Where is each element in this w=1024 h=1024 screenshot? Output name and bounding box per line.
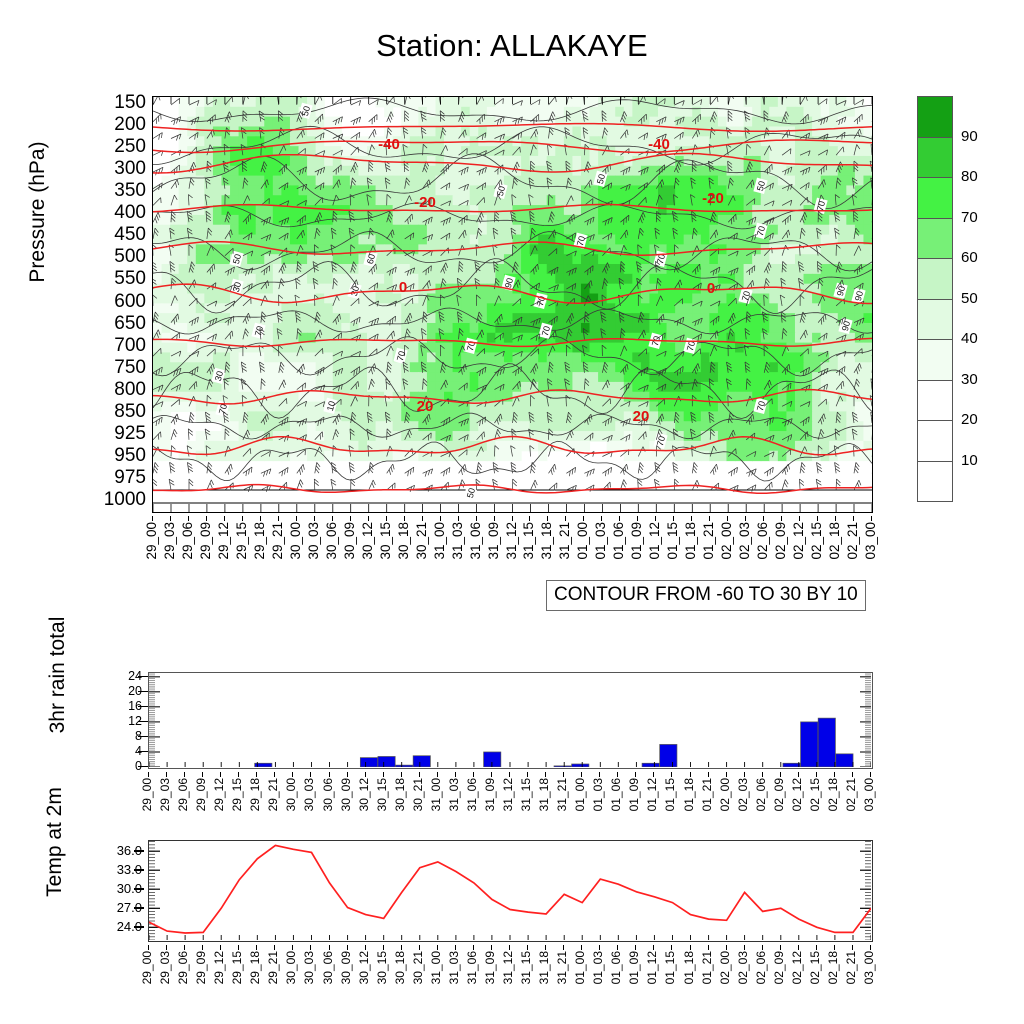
main-yaxis-labels: 1502002503003504004505005506006507007508… [96,96,146,513]
xaxis-tick-label: 29_15 [235,522,249,560]
xaxis-tick-label: 30_09 [340,778,352,811]
xaxis-tickmark [726,772,727,777]
colorbar-cell [917,420,953,462]
xaxis-tick-label: 02_18 [828,522,842,560]
xaxis-tickmark [635,772,636,777]
xaxis-tick-label: 29_09 [199,522,213,560]
xaxis-tickmark [383,772,384,777]
xaxis-tickmark [545,772,546,777]
xaxis-tick-label: 02_03 [738,522,752,560]
xaxis-tick-label: 02_06 [756,522,770,560]
xaxis-tick-label: 02_00 [719,778,731,811]
xaxis-tick-label: 31_12 [502,951,514,984]
colorbar-cell [917,96,953,138]
xaxis-tickmark [563,772,564,777]
xaxis-tick-label: 30_00 [289,522,303,560]
temp-tickmark [134,869,144,870]
temp-xaxis-tick-labels: 29_0029_0329_0629_0929_1229_1529_1829_21… [148,945,873,1015]
xaxis-tickmark [617,772,618,777]
xaxis-tick-label: 30_12 [358,778,370,811]
xaxis-tick-label: 29_12 [213,778,225,811]
xaxis-tick-label: 31_15 [522,522,536,560]
xaxis-tick-label: 01_03 [594,522,608,560]
xaxis-tick-label: 02_03 [737,951,749,984]
xaxis-tick-label: 02_21 [845,951,857,984]
pressure-tick-label: 950 [102,446,146,465]
xaxis-tick-label: 30_15 [376,951,388,984]
xaxis-tick-label: 29_12 [213,951,225,984]
xaxis-tickmark [599,772,600,777]
xaxis-tickmark [816,772,817,777]
xaxis-tickmark [220,945,221,950]
xaxis-tickmark [671,945,672,950]
xaxis-tick-label: 29_03 [159,778,171,811]
xaxis-tick-label: 31_21 [556,951,568,984]
xaxis-tickmark [440,516,441,521]
xaxis-tick-label: 31_06 [469,522,483,560]
cross-section-plot[interactable]: 5030305050709070707030701070707070909090… [152,96,873,513]
xaxis-tick-label: 01_09 [628,951,640,984]
xaxis-tick-label: 03_00 [864,522,878,560]
colorbar-tick-label: 40 [961,331,978,346]
temp-yaxis-labels: 24.027.030.033.036.0 [100,836,142,944]
xaxis-tick-label: 01_12 [646,778,658,811]
xaxis-tick-label: 01_18 [683,778,695,811]
xaxis-tick-label: 02_18 [827,778,839,811]
xaxis-tickmark [404,516,405,521]
xaxis-tick-label: 30_15 [379,522,393,560]
pressure-tick-label: 350 [102,181,146,200]
pressure-tick-label: 450 [102,225,146,244]
xaxis-tickmark [170,516,171,521]
xaxis-tick-label: 02_09 [773,951,785,984]
xaxis-tickmark [220,772,221,777]
xaxis-tick-label: 02_00 [720,522,734,560]
xaxis-tick-label: 31_18 [540,522,554,560]
xaxis-tickmark [166,772,167,777]
pressure-tick-label: 800 [102,380,146,399]
xaxis-tick-label: 29_21 [267,951,279,984]
xaxis-tickmark [780,945,781,950]
temp-tickmark [134,926,144,927]
xaxis-tick-label: 29_12 [217,522,231,560]
xaxis-tick-label: 31_09 [487,522,501,560]
xaxis-tickmark [581,772,582,777]
xaxis-tick-label: 29_21 [271,522,285,560]
xaxis-tick-label: 29_09 [195,778,207,811]
xaxis-tick-label: 29_06 [177,778,189,811]
xaxis-tick-label: 30_03 [307,522,321,560]
xaxis-tick-label: 02_09 [774,522,788,560]
pressure-tick-label: 850 [102,402,146,421]
xaxis-tickmark [347,772,348,777]
xaxis-tick-label: 01_06 [610,778,622,811]
xaxis-tickmark [148,945,149,950]
xaxis-tick-label: 29_21 [267,778,279,811]
colorbar-tick-label: 10 [961,453,978,468]
xaxis-tick-label: 30_03 [303,951,315,984]
colorbar-cell [917,299,953,341]
xaxis-tickmark [509,772,510,777]
temp-tickmark [134,850,144,851]
xaxis-tickmark [310,772,311,777]
xaxis-tickmark [206,516,207,521]
xaxis-tick-label: 01_00 [576,522,590,560]
xaxis-tick-label: 30_15 [376,778,388,811]
xaxis-tickmark [202,945,203,950]
xaxis-tick-label: 01_15 [664,778,676,811]
xaxis-tickmark [583,516,584,521]
xaxis-tickmark [238,772,239,777]
pressure-tick-label: 750 [102,358,146,377]
xaxis-tickmark [386,516,387,521]
xaxis-tickmark [601,516,602,521]
xaxis-tickmark [256,945,257,950]
pressure-tick-label: 500 [102,247,146,266]
xaxis-tick-label: 02_21 [846,522,860,560]
xaxis-tick-label: 01_03 [592,778,604,811]
xaxis-tickmark [870,772,871,777]
pressure-tick-label: 550 [102,269,146,288]
xaxis-tickmark [690,772,691,777]
xaxis-tickmark [350,516,351,521]
xaxis-tickmark [671,772,672,777]
xaxis-tick-label: 29_00 [145,522,159,560]
colorbar-tick-label: 80 [961,169,978,184]
xaxis-tickmark [835,516,836,521]
colorbar-tick-label: 60 [961,250,978,265]
xaxis-tick-label: 30_06 [322,778,334,811]
xaxis-tickmark [166,945,167,950]
colorbar-cell [917,137,953,179]
xaxis-tick-label: 31_18 [538,951,550,984]
xaxis-tick-label: 30_18 [394,951,406,984]
xaxis-tickmark [799,516,800,521]
xaxis-tickmark [527,772,528,777]
xaxis-tick-label: 01_21 [701,778,713,811]
xaxis-tickmark [762,772,763,777]
xaxis-tickmark [260,516,261,521]
xaxis-tick-label: 02_15 [809,778,821,811]
xaxis-tick-label: 30_21 [415,522,429,560]
xaxis-tick-label: 02_12 [791,951,803,984]
xaxis-tick-label: 29_06 [181,522,195,560]
xaxis-tick-label: 31_09 [484,778,496,811]
xaxis-tickmark [314,516,315,521]
xaxis-tick-label: 31_09 [484,951,496,984]
pressure-tick-label: 600 [102,292,146,311]
xaxis-tick-label: 30_03 [303,778,315,811]
xaxis-tickmark [292,945,293,950]
xaxis-tickmark [347,945,348,950]
xaxis-tickmark [708,772,709,777]
pressure-tick-label: 250 [102,137,146,156]
xaxis-tickmark [547,516,548,521]
xaxis-tickmark [455,945,456,950]
xaxis-tick-label: 02_12 [791,778,803,811]
humidity-colorbar: 908070605040302010 [917,96,953,501]
xaxis-tickmark [292,772,293,777]
xaxis-tickmark [691,516,692,521]
colorbar-cell [917,177,953,219]
xaxis-tick-label: 01_12 [648,522,662,560]
xaxis-tickmark [563,945,564,950]
xaxis-tickmark [278,516,279,521]
xaxis-tickmark [365,945,366,950]
xaxis-tick-label: 01_21 [702,522,716,560]
xaxis-tick-label: 29_15 [231,778,243,811]
xaxis-tickmark [512,516,513,521]
xaxis-tickmark [152,516,153,521]
xaxis-tickmark [817,516,818,521]
xaxis-tickmark [853,516,854,521]
colorbar-cell [917,461,953,503]
xaxis-tick-label: 31_12 [505,522,519,560]
xaxis-tickmark [437,772,438,777]
xaxis-tickmark [709,516,710,521]
xaxis-tickmark [545,945,546,950]
colorbar-tick-label: 70 [961,210,978,225]
xaxis-tick-label: 30_00 [285,778,297,811]
xaxis-tickmark [473,772,474,777]
xaxis-tickmark [329,945,330,950]
pressure-tick-label: 650 [102,314,146,333]
rain-yaxis-labels: 04812162024 [108,668,142,772]
xaxis-tickmark [274,945,275,950]
temp-tickmark [134,907,144,908]
xaxis-tick-label: 30_06 [325,522,339,560]
xaxis-tick-label: 30_09 [340,951,352,984]
xaxis-tickmark [798,945,799,950]
colorbar-tick-label: 20 [961,412,978,427]
xaxis-tickmark [184,772,185,777]
xaxis-tick-label: 31_21 [556,778,568,811]
cross-section-svg: 5030305050709070707030701070707070909090… [153,97,872,512]
xaxis-tick-label: 01_21 [701,951,713,984]
xaxis-tickmark [437,945,438,950]
pressure-tick-label: 150 [102,93,146,112]
xaxis-tick-label: 29_03 [159,951,171,984]
xaxis-tick-label: 31_03 [451,522,465,560]
colorbar-tick-label: 30 [961,372,978,387]
xaxis-tickmark [422,516,423,521]
xaxis-tick-label: 31_12 [502,778,514,811]
xaxis-tickmark [242,516,243,521]
temp-plot[interactable] [148,840,873,942]
xaxis-tick-label: 02_15 [810,522,824,560]
xaxis-tickmark [476,516,477,521]
xaxis-tick-label: 29_09 [195,951,207,984]
xaxis-tick-label: 29_00 [141,951,153,984]
xaxis-tick-label: 30_00 [285,951,297,984]
xaxis-tickmark [653,945,654,950]
pressure-tick-label: 975 [102,468,146,487]
xaxis-tickmark [332,516,333,521]
xaxis-tick-label: 01_15 [664,951,676,984]
colorbar-cell [917,258,953,300]
xaxis-tick-label: 02_00 [719,951,731,984]
pressure-tick-label: 300 [102,159,146,178]
xaxis-tick-label: 31_21 [558,522,572,560]
main-yaxis-title: Pressure (hPa) [26,82,50,342]
xaxis-tickmark [565,516,566,521]
xaxis-tickmark [458,516,459,521]
xaxis-tick-label: 03_00 [863,778,875,811]
xaxis-tickmark [455,772,456,777]
xaxis-tick-label: 31_00 [430,778,442,811]
xaxis-tickmark [852,772,853,777]
contour-note: CONTOUR FROM -60 TO 30 BY 10 [546,580,866,611]
xaxis-tickmark [798,772,799,777]
xaxis-tickmark [401,772,402,777]
xaxis-tickmark [581,945,582,950]
pressure-tick-label: 925 [102,424,146,443]
xaxis-tick-label: 02_03 [737,778,749,811]
xaxis-tickmark [599,945,600,950]
xaxis-tickmark [834,772,835,777]
page-title: Station: ALLAKAYE [0,28,1024,64]
xaxis-tickmark [310,945,311,950]
xaxis-tick-label: 30_06 [322,951,334,984]
xaxis-tickmark [745,516,746,521]
colorbar-cell [917,218,953,260]
xaxis-tick-label: 30_09 [343,522,357,560]
xaxis-tickmark [274,772,275,777]
xaxis-tickmark [762,945,763,950]
xaxis-tick-label: 02_09 [773,778,785,811]
xaxis-tickmark [870,945,871,950]
xaxis-tick-label: 31_00 [433,522,447,560]
xaxis-tickmark [188,516,189,521]
xaxis-tickmark [527,945,528,950]
xaxis-tick-label: 29_03 [163,522,177,560]
xaxis-tick-label: 31_03 [448,778,460,811]
xaxis-tickmark [383,945,384,950]
xaxis-tick-label: 02_15 [809,951,821,984]
colorbar-tick-label: 50 [961,291,978,306]
xaxis-tickmark [781,516,782,521]
xaxis-tickmark [419,772,420,777]
xaxis-tick-label: 01_00 [574,951,586,984]
temp-tickmark [134,888,144,889]
xaxis-tick-label: 31_15 [520,951,532,984]
xaxis-tickmark [148,772,149,777]
main-xaxis-tick-labels: 29_0029_0329_0629_0929_1229_1529_1829_21… [152,516,873,586]
xaxis-tickmark [619,516,620,521]
xaxis-tickmark [673,516,674,521]
xaxis-tick-label: 03_00 [863,951,875,984]
xaxis-tick-label: 30_18 [397,522,411,560]
xaxis-tickmark [708,945,709,950]
xaxis-tickmark [224,516,225,521]
xaxis-tickmark [473,945,474,950]
xaxis-tick-label: 29_18 [253,522,267,560]
temp-line-svg [149,841,871,940]
xaxis-tickmark [635,945,636,950]
xaxis-tickmark [816,945,817,950]
xaxis-tick-label: 01_06 [612,522,626,560]
xaxis-tickmark [763,516,764,521]
xaxis-tickmark [238,945,239,950]
pressure-tick-label: 1000 [102,490,146,509]
xaxis-tickmark [184,945,185,950]
xaxis-tickmark [491,772,492,777]
xaxis-tick-label: 02_21 [845,778,857,811]
xaxis-tickmark [296,516,297,521]
xaxis-tick-label: 29_18 [249,778,261,811]
xaxis-tick-label: 31_15 [520,778,532,811]
xaxis-tickmark [401,945,402,950]
xaxis-tickmark [690,945,691,950]
xaxis-tickmark [494,516,495,521]
xaxis-tickmark [368,516,369,521]
rain-xaxis-tick-labels: 29_0029_0329_0629_0929_1229_1529_1829_21… [148,772,873,842]
colorbar-cell [917,380,953,422]
xaxis-tickmark [834,945,835,950]
colorbar-cell [917,339,953,381]
xaxis-tick-label: 29_15 [231,951,243,984]
xaxis-tickmark [419,945,420,950]
xaxis-tick-label: 31_06 [466,778,478,811]
xaxis-tick-label: 01_15 [666,522,680,560]
xaxis-tick-label: 02_06 [755,778,767,811]
xaxis-tickmark [329,772,330,777]
xaxis-tick-label: 02_06 [755,951,767,984]
xaxis-tickmark [491,945,492,950]
xaxis-tickmark [871,516,872,521]
temp-axis-title: Temp at 2m [43,717,67,967]
pressure-tick-label: 200 [102,115,146,134]
xaxis-tickmark [744,945,745,950]
rain-plot[interactable] [148,672,873,769]
xaxis-tickmark [256,772,257,777]
pressure-tick-label: 400 [102,203,146,222]
xaxis-tick-label: 30_21 [412,951,424,984]
xaxis-tick-label: 01_18 [683,951,695,984]
xaxis-tickmark [727,516,728,521]
xaxis-tick-label: 01_09 [628,778,640,811]
xaxis-tick-label: 01_12 [646,951,658,984]
xaxis-tick-label: 02_18 [827,951,839,984]
xaxis-tickmark [509,945,510,950]
xaxis-tickmark [780,772,781,777]
xaxis-tick-label: 31_00 [430,951,442,984]
xaxis-tick-label: 31_18 [538,778,550,811]
xaxis-tickmark [365,772,366,777]
xaxis-tick-label: 29_18 [249,951,261,984]
xaxis-tick-label: 01_18 [684,522,698,560]
xaxis-tickmark [852,945,853,950]
xaxis-tick-label: 01_09 [630,522,644,560]
xaxis-tick-label: 31_06 [466,951,478,984]
xaxis-tick-label: 30_12 [361,522,375,560]
xaxis-tick-label: 30_12 [358,951,370,984]
xaxis-tick-label: 30_21 [412,778,424,811]
xaxis-tickmark [744,772,745,777]
xaxis-tickmark [653,772,654,777]
xaxis-tick-label: 01_03 [592,951,604,984]
colorbar-tick-label: 90 [961,129,978,144]
pressure-tick-label: 700 [102,336,146,355]
xaxis-tick-label: 31_03 [448,951,460,984]
xaxis-tick-label: 02_12 [792,522,806,560]
xaxis-tickmark [637,516,638,521]
xaxis-tickmark [655,516,656,521]
xaxis-tick-label: 29_06 [177,951,189,984]
xaxis-tickmark [726,945,727,950]
xaxis-tick-label: 01_00 [574,778,586,811]
xaxis-tick-label: 30_18 [394,778,406,811]
